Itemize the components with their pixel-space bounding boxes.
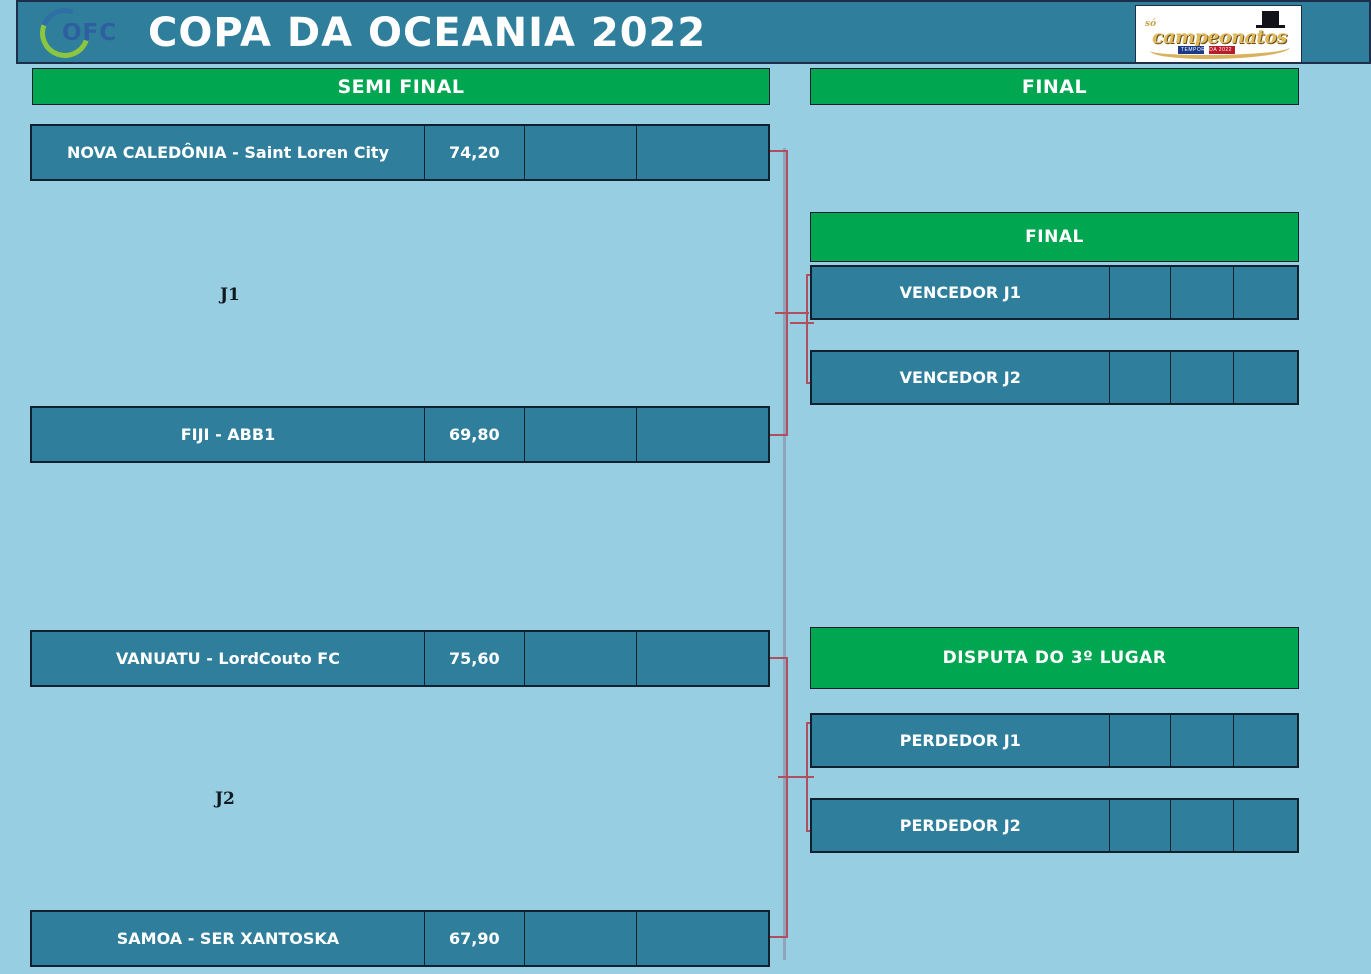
match-extra-cell-2[interactable]	[637, 912, 768, 965]
table-row[interactable]: FIJI - ABB1 69,80	[30, 406, 770, 463]
third-slot-name: PERDEDOR J2	[812, 800, 1110, 851]
third-slot-cell-a[interactable]	[1110, 800, 1172, 851]
list-item[interactable]: PERDEDOR J1	[810, 713, 1299, 768]
match-extra-cell-2[interactable]	[637, 408, 768, 461]
connector-j2-vertical	[786, 657, 788, 938]
round-header-semi-final: SEMI FINAL	[32, 68, 770, 105]
third-slot-cell-a[interactable]	[1110, 715, 1172, 766]
bracket-page: OFC COPA DA OCEANIA 2022 só campeonatos …	[0, 0, 1371, 974]
match-extra-cell-2[interactable]	[637, 632, 768, 685]
final-slot-name: VENCEDOR J2	[812, 352, 1110, 403]
final-box-header: FINAL	[810, 212, 1299, 262]
final-slot-name: VENCEDOR J1	[812, 267, 1110, 318]
final-slot-cell-b[interactable]	[1171, 267, 1233, 318]
final-slot-cell-c[interactable]	[1234, 352, 1297, 403]
round-header-final: FINAL	[810, 68, 1299, 105]
final-slot-cell-a[interactable]	[1110, 267, 1172, 318]
so-campeonatos-logo: só campeonatos TEMPORADA 2022	[1135, 5, 1302, 63]
brand-main-word: campeonatos	[1152, 26, 1287, 48]
match-extra-cell-1[interactable]	[525, 632, 638, 685]
page-title: COPA DA OCEANIA 2022	[148, 4, 1128, 62]
match-score: 67,90	[425, 912, 525, 965]
list-item[interactable]: VENCEDOR J2	[810, 350, 1299, 405]
leg-label-j1: J1	[220, 285, 240, 305]
match-team-name: SAMOA - SER XANTOSKA	[32, 912, 425, 965]
title-bar: OFC COPA DA OCEANIA 2022 só campeonatos …	[16, 0, 1371, 64]
table-row[interactable]: SAMOA - SER XANTOSKA 67,90	[30, 910, 770, 967]
match-score: 69,80	[425, 408, 525, 461]
final-slot-cell-c[interactable]	[1234, 267, 1297, 318]
table-row[interactable]: NOVA CALEDÔNIA - Saint Loren City 74,20	[30, 124, 770, 181]
match-extra-cell-2[interactable]	[637, 126, 768, 179]
match-score: 74,20	[425, 126, 525, 179]
leg-label-j2: J2	[215, 789, 235, 809]
match-extra-cell-1[interactable]	[525, 408, 638, 461]
brand-sub-word: TEMPORADA 2022	[1178, 46, 1235, 54]
match-extra-cell-1[interactable]	[525, 126, 638, 179]
match-team-name: FIJI - ABB1	[32, 408, 425, 461]
connector-j1-out	[775, 312, 809, 314]
third-slot-name: PERDEDOR J1	[812, 715, 1110, 766]
final-slot-cell-b[interactable]	[1171, 352, 1233, 403]
connector-j1-bottom-stub	[770, 434, 788, 436]
third-slot-cell-c[interactable]	[1234, 800, 1297, 851]
connector-third-in	[778, 776, 814, 778]
third-slot-cell-b[interactable]	[1171, 715, 1233, 766]
list-item[interactable]: PERDEDOR J2	[810, 798, 1299, 853]
third-slot-cell-c[interactable]	[1234, 715, 1297, 766]
match-score: 75,60	[425, 632, 525, 685]
ofc-logo-icon: OFC	[36, 6, 131, 61]
third-place-box-header: DISPUTA DO 3º LUGAR	[810, 627, 1299, 689]
third-slot-cell-b[interactable]	[1171, 800, 1233, 851]
connector-j1-vertical	[786, 150, 788, 436]
top-hat-icon	[1262, 11, 1279, 28]
match-extra-cell-1[interactable]	[525, 912, 638, 965]
ofc-logo-text: OFC	[62, 20, 117, 46]
final-slot-cell-a[interactable]	[1110, 352, 1172, 403]
table-row[interactable]: VANUATU - LordCouto FC 75,60	[30, 630, 770, 687]
list-item[interactable]: VENCEDOR J1	[810, 265, 1299, 320]
connector-j2-bottom-stub	[770, 936, 788, 938]
connector-final-in	[790, 322, 814, 324]
connector-final-vertical	[806, 274, 808, 384]
match-team-name: NOVA CALEDÔNIA - Saint Loren City	[32, 126, 425, 179]
match-team-name: VANUATU - LordCouto FC	[32, 632, 425, 685]
